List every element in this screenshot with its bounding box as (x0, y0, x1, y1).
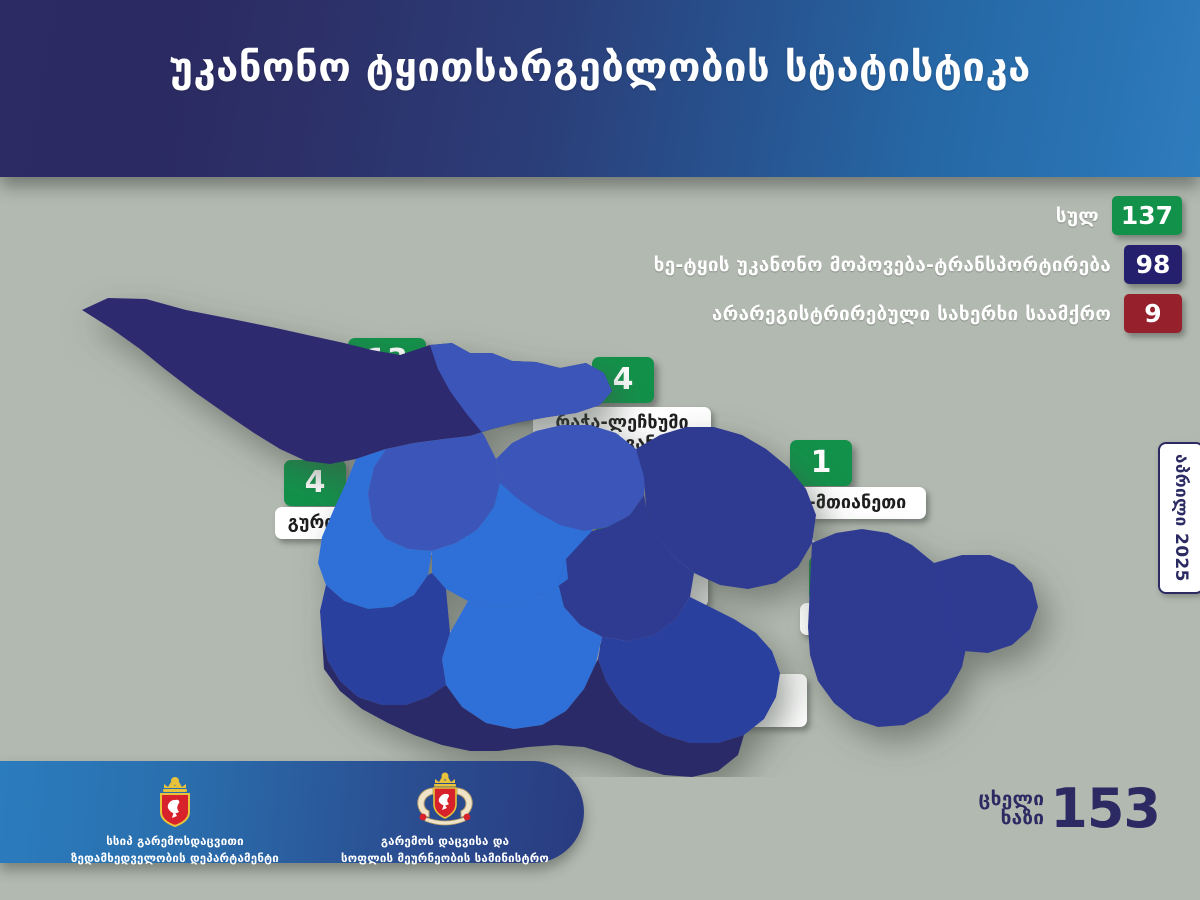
hotline: ცხელი ხაზი 153 (978, 786, 1160, 832)
legend: სულ 137 ხე-ტყის უკანონო მოპოვება-ტრანსპო… (654, 196, 1182, 333)
org-ministry-label: გარემოს დაცვისა და სოფლის მეურნეობის სამ… (300, 833, 590, 866)
date-tag: აპრილი 2025 (1158, 442, 1200, 594)
org-department: სსიპ გარემოსდაცვითი ზედამხედველობის დეპა… (30, 775, 320, 866)
legend-chip-logging: 98 (1124, 245, 1182, 284)
org-department-label: სსიპ გარემოსდაცვითი ზედამხედველობის დეპა… (30, 833, 320, 866)
page-title: უკანონო ტყითსარგებლობის სტატისტიკა (0, 46, 1200, 91)
legend-row-sawmill: არარეგისტრირებული სახერხი საამქრო 9 (712, 294, 1182, 333)
org-ministry: გარემოს დაცვისა და სოფლის მეურნეობის სამ… (300, 771, 590, 866)
legend-label-sawmill: არარეგისტრირებული სახერხი საამქრო (712, 303, 1111, 325)
legend-row-logging: ხე-ტყის უკანონო მოპოვება-ტრანსპორტირება … (654, 245, 1182, 284)
region-shape-kakheti (808, 529, 968, 727)
date-tag-label: აპრილი 2025 (1171, 454, 1191, 582)
hotline-label: ცხელი ხაზი (978, 790, 1044, 828)
legend-chip-sawmill: 9 (1124, 294, 1182, 333)
footer-banner: სსიპ გარემოსდაცვითი ზედამხედველობის დეპა… (0, 761, 584, 863)
map-shapes (82, 298, 1038, 777)
header-banner: უკანონო ტყითსარგებლობის სტატისტიკა (0, 0, 1200, 177)
infographic-page: უკანონო ტყითსარგებლობის სტატისტიკა სულ 1… (0, 0, 1200, 900)
legend-label-logging: ხე-ტყის უკანონო მოპოვება-ტრანსპორტირება (654, 254, 1111, 276)
legend-row-total: სულ 137 (1056, 196, 1182, 235)
legend-label-total: სულ (1056, 205, 1099, 227)
ministry-crest-icon (413, 771, 477, 829)
legend-chip-total: 137 (1112, 196, 1182, 235)
department-crest-icon (152, 775, 198, 829)
hotline-number: 153 (1050, 786, 1160, 832)
